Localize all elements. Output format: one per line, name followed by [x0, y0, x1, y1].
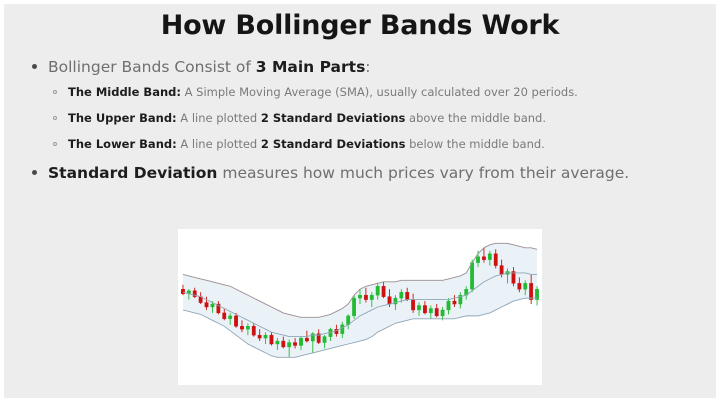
bullet-list-level2: The Middle Band: A Simple Moving Average…	[48, 84, 696, 152]
candle-body	[417, 306, 420, 310]
candle-body	[341, 325, 344, 334]
sub-strong-upper-band: 2 Standard Deviations	[261, 111, 406, 125]
candle-body	[246, 326, 249, 329]
candle-body	[270, 335, 273, 344]
candle-body	[276, 341, 279, 344]
bullet-main-2-text-after: measures how much prices vary from their…	[217, 164, 629, 182]
candle-body	[364, 295, 367, 299]
bullet-circle-icon	[53, 142, 57, 146]
candle-body	[293, 343, 296, 346]
bullet-main-1-text-after: :	[365, 58, 370, 76]
sub-text-lower-band-before: A line plotted	[177, 137, 261, 151]
candle-body	[382, 286, 385, 296]
candle-body	[406, 292, 409, 299]
candle-body	[524, 283, 527, 289]
candle-body	[358, 295, 361, 298]
slide-body: Bollinger Bands Consist of 3 Main Parts:…	[26, 56, 696, 186]
candle-body	[429, 308, 432, 312]
candle-body	[447, 301, 450, 310]
candle-body	[234, 316, 237, 326]
bullet-main-2: Standard Deviation measures how much pri…	[26, 162, 696, 184]
bullet-dot-icon	[32, 64, 37, 69]
sub-text-upper-band-before: A line plotted	[177, 111, 261, 125]
candle-body	[252, 326, 255, 335]
candle-body	[240, 326, 243, 329]
slide-canvas: How Bollinger Bands Work Bollinger Bands…	[4, 4, 716, 398]
candle-body	[223, 313, 226, 319]
candle-body	[370, 295, 373, 299]
candle-body	[435, 308, 438, 315]
candle-body	[205, 303, 208, 307]
bullet-main-2-strong: Standard Deviation	[48, 164, 217, 182]
candle-body	[211, 304, 214, 307]
candle-body	[423, 306, 426, 313]
candlestick-chart-svg	[178, 229, 542, 385]
candle-body	[228, 316, 231, 319]
candle-body	[500, 266, 503, 275]
candle-body	[258, 335, 261, 338]
candle-body	[181, 289, 184, 293]
sub-text-lower-band-after: below the middle band.	[405, 137, 544, 151]
candle-body	[323, 337, 326, 343]
bullet-sub-middle-band: The Middle Band: A Simple Moving Average…	[48, 84, 696, 100]
bullet-circle-icon	[53, 116, 57, 120]
candle-body	[352, 298, 355, 316]
candle-body	[482, 257, 485, 260]
candle-body	[376, 286, 379, 295]
candle-body	[441, 310, 444, 316]
candle-body	[518, 283, 521, 289]
bullet-circle-icon	[53, 90, 57, 94]
page-title: How Bollinger Bands Work	[4, 10, 716, 41]
candle-body	[529, 283, 532, 299]
candle-body	[453, 301, 456, 304]
candle-body	[282, 341, 285, 347]
bullet-list-level1: Bollinger Bands Consist of 3 Main Parts:…	[26, 56, 696, 184]
sub-label-middle-band: The Middle Band:	[68, 85, 181, 99]
bullet-main-1-text-before: Bollinger Bands Consist of	[48, 58, 256, 76]
sub-text-middle-band-before: A Simple Moving Average (SMA), usually c…	[181, 85, 578, 99]
candle-body	[488, 254, 491, 260]
candle-body	[476, 257, 479, 263]
bullet-main-1-strong: 3 Main Parts	[256, 58, 366, 76]
candle-body	[305, 338, 308, 341]
sub-strong-lower-band: 2 Standard Deviations	[261, 137, 406, 151]
sub-label-upper-band: The Upper Band:	[68, 111, 177, 125]
bollinger-bands-chart	[178, 229, 542, 385]
bullet-sub-lower-band: The Lower Band: A line plotted 2 Standar…	[48, 136, 696, 152]
candle-body	[388, 297, 391, 304]
candle-body	[400, 292, 403, 298]
candle-body	[264, 335, 267, 338]
sub-text-upper-band-after: above the middle band.	[405, 111, 546, 125]
bullet-dot-icon	[32, 170, 37, 175]
bullet-main-1: Bollinger Bands Consist of 3 Main Parts:…	[26, 56, 696, 152]
candle-body	[470, 263, 473, 290]
candle-body	[299, 338, 302, 345]
candle-body	[411, 300, 414, 310]
sub-label-lower-band: The Lower Band:	[68, 137, 177, 151]
candle-body	[494, 254, 497, 266]
candle-body	[287, 343, 290, 347]
bullet-sub-upper-band: The Upper Band: A line plotted 2 Standar…	[48, 110, 696, 126]
